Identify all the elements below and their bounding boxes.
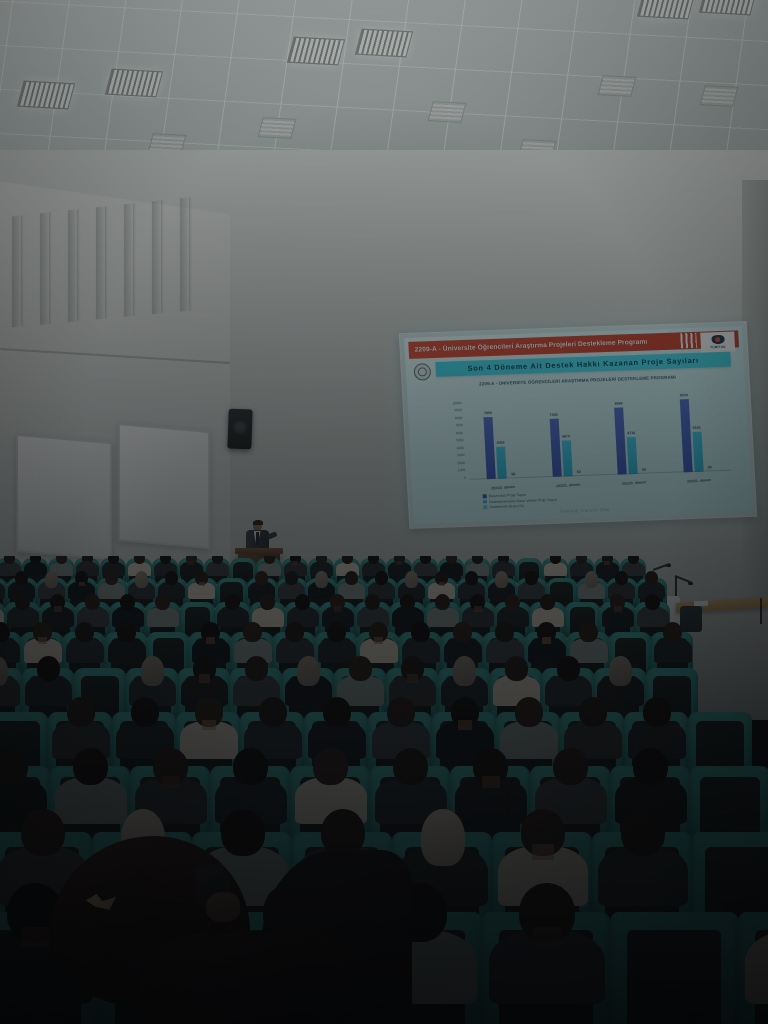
audience-member [604, 591, 631, 625]
attendee-head [633, 748, 668, 785]
chart-category-label: 2023/1. dönem [687, 478, 711, 484]
pa-speaker [227, 409, 252, 450]
attendee-head [37, 656, 60, 681]
attendee-neck [374, 637, 383, 644]
attendee-head [609, 656, 632, 686]
attendee-head [67, 697, 95, 727]
podium-top [235, 548, 283, 554]
attendee-head [387, 697, 415, 727]
ceiling-vent [700, 85, 739, 107]
attendee-neck [407, 674, 418, 682]
audience-member [149, 591, 176, 625]
chart-bar-value: 55 [708, 465, 712, 469]
ceiling-light-fixture [637, 0, 695, 19]
attendee-head [56, 556, 67, 564]
chart-bar-value: 4674 [562, 434, 570, 438]
chart-bar-group: 79004053582021/2. dönem [471, 400, 530, 480]
attendee-head [15, 571, 28, 585]
attendee-head [495, 571, 508, 588]
chart-bar: 7900 [484, 417, 496, 479]
attendee-head [313, 748, 348, 785]
attendee-head [316, 556, 327, 564]
chart-bar-value: 7900 [484, 411, 492, 415]
attendee-neck [199, 582, 206, 587]
y-axis-tick: 4000 [456, 447, 464, 451]
ceiling-light-fixture [105, 69, 163, 98]
chart-bar-value: 4716 [627, 431, 635, 435]
tubitak-logo-text: TÜBİTAK [710, 345, 726, 350]
ceiling-vent [428, 101, 467, 123]
audience-member [656, 619, 689, 661]
attendee-head [255, 571, 268, 585]
y-axis-tick: 3000 [457, 454, 465, 458]
attendee-neck [206, 637, 215, 644]
whiteboard-right [118, 423, 210, 549]
attendee-head [73, 748, 108, 785]
attendee-neck [334, 606, 342, 611]
attendee-neck [439, 582, 446, 587]
y-axis-tick: 6000 [456, 432, 464, 436]
chart-bar-value: 5165 [692, 425, 700, 429]
attendee-head [421, 809, 465, 866]
chart-legend: Başvurulan Proje SayısıDesteklenmesine K… [483, 492, 558, 510]
audience-member [497, 873, 597, 997]
chart-bar: 7445 [549, 419, 561, 477]
audience-member [190, 569, 213, 598]
attendee-head [615, 571, 628, 585]
attendee-head [505, 656, 528, 681]
chart-bar: 8549 [614, 408, 627, 475]
attendee-head [628, 556, 639, 564]
attendee-head [135, 571, 148, 588]
chart-bar-group: 85494716552022/2. dönem [602, 395, 661, 475]
attendee-neck [474, 606, 482, 611]
y-axis-tick: 2000 [457, 462, 465, 466]
chart-category-label: 2021/2. dönem [491, 485, 515, 491]
chart-category-label: 2022/1. dönem [556, 483, 580, 489]
attendee-head [30, 556, 41, 564]
attendee-head [465, 571, 478, 585]
attendee-head [285, 622, 303, 642]
attendee-head [453, 622, 471, 642]
chart-bar-value: 8549 [615, 402, 623, 406]
ceiling-light-fixture [699, 0, 757, 15]
audience-member [580, 569, 603, 598]
attendee-head [585, 571, 598, 588]
attendee-head [233, 748, 268, 785]
legend-label: Başvurulan Proje Sayısı [489, 493, 527, 498]
attendee-head [212, 556, 223, 564]
attendee-head [663, 622, 681, 642]
attendee-head [375, 571, 388, 585]
presenter-tie [256, 532, 259, 545]
legend-swatch [483, 505, 487, 509]
chart-plot: 1000090008000700060005000400030002000100… [466, 393, 732, 480]
attendee-head [345, 571, 358, 585]
chart-bar-value: 7445 [550, 413, 558, 417]
attendee-neck [162, 776, 179, 788]
attendee-head [315, 571, 328, 588]
y-axis-tick: 9000 [454, 409, 462, 413]
attendee-head [411, 622, 429, 642]
ceiling-vent [258, 117, 297, 139]
attendee-head [117, 622, 135, 642]
attendee-neck [199, 674, 210, 682]
attendee-head [134, 556, 145, 564]
attendee-head [643, 697, 671, 727]
slide-header-title: 2209-A - Üniversite Öğrencileri Araştırm… [409, 339, 648, 354]
auditorium-seat [610, 912, 738, 1024]
slide-footer: Teknoloji Transfer Ofisi [428, 502, 742, 518]
ceiling-light-fixture [287, 37, 345, 66]
audience-member [0, 652, 17, 703]
attendee-neck [79, 582, 86, 587]
ceiling-light-fixture [355, 29, 413, 58]
attendee-body [140, 932, 350, 1024]
audience-member [68, 619, 101, 661]
chart-bar-group: 93345165552023/1. dönem [667, 393, 726, 473]
attendee-head [472, 556, 483, 564]
attendee-neck [482, 776, 499, 788]
presentation-slide: 2209-A - Üniversite Öğrencileri Araştırm… [404, 326, 752, 524]
attendee-neck [84, 561, 90, 565]
audience-member [545, 556, 565, 575]
audience-member [753, 873, 768, 997]
legend-swatch [483, 494, 487, 498]
attendee-head [579, 697, 607, 727]
attendee-head [4, 556, 15, 564]
acoustic-slat-panel [6, 196, 202, 328]
attendee-head [446, 556, 457, 564]
chart-bar-value: 55 [642, 467, 646, 471]
chart-bar: 4674 [562, 440, 573, 477]
header-stripe-decoration [680, 333, 697, 349]
attendee-neck [500, 561, 506, 565]
y-axis-tick: 5000 [456, 439, 464, 443]
attendee-head [349, 656, 372, 681]
attendee-head [420, 556, 431, 564]
attendee-neck [614, 606, 622, 611]
attendee-head [108, 556, 119, 564]
attendee-head [131, 697, 159, 727]
ceiling-light-fixture [17, 81, 75, 110]
attendee-head [579, 622, 597, 642]
ceiling-vent [598, 75, 637, 97]
auditorium-scene: 2209-A - Üniversite Öğrencileri Araştırm… [0, 0, 768, 1024]
attendee-head [621, 809, 665, 856]
legend-label: Destekleme Oranı (%) [489, 504, 524, 509]
chart-bar-value: 58 [511, 472, 515, 476]
attendee-neck [458, 720, 472, 730]
attendee-head [405, 571, 418, 588]
foreground-attendee [30, 836, 330, 1024]
attendee-head [342, 556, 353, 564]
y-axis-tick: 1000 [458, 469, 466, 473]
attendee-head [525, 571, 538, 585]
attendee-head [557, 656, 580, 681]
attendee-head [75, 622, 93, 642]
chart-bar-group: 74454674632022/1. dönem [536, 398, 595, 478]
attendee-neck [202, 720, 216, 730]
attendee-head [264, 556, 275, 564]
attendee-head [495, 622, 513, 642]
attendee-head [245, 656, 268, 681]
chart-category-label: 2022/2. dönem [622, 480, 646, 486]
chart-bar: 9334 [680, 399, 693, 472]
attendee-head [550, 556, 561, 564]
attendee-neck [542, 637, 551, 644]
projection-screen: 2209-A - Üniversite Öğrencileri Araştırm… [399, 321, 757, 529]
tubitak-logo: TÜBİTAK [700, 332, 735, 353]
presenter-hair [253, 520, 263, 525]
attendee-head [576, 556, 587, 564]
y-axis-tick: 0 [464, 476, 466, 479]
attendee-head [0, 748, 28, 785]
chart-bar: 4053 [496, 447, 507, 479]
chart-bar-groups: 79004053582021/2. dönem74454674632022/1.… [466, 393, 732, 480]
attendee-head [285, 571, 298, 585]
attendee-head [368, 556, 379, 564]
attendee-head [297, 656, 320, 686]
attendee-head [160, 556, 171, 564]
attendee-head [393, 748, 428, 785]
attendee-hand [206, 892, 240, 922]
attendee-head [645, 571, 658, 585]
attendee-head [453, 656, 476, 686]
legend-swatch [483, 500, 487, 504]
attendee-head [45, 571, 58, 588]
attendee-head [323, 697, 351, 727]
attendee-head [515, 697, 543, 727]
attendee-neck [604, 561, 610, 565]
y-axis-tick: 10000 [452, 402, 462, 406]
slide-subtitle: Son 4 Döneme Ait Destek Hakkı Kazanan Pr… [467, 356, 699, 373]
attendee-head [553, 748, 588, 785]
tubitak-mark-icon [711, 335, 724, 344]
attendee-head [327, 622, 345, 642]
audience-member [604, 801, 682, 900]
chart-area: 2209-A - ÜNİVERSİTE ÖĞRENCİLERİ ARAŞTIRM… [421, 373, 742, 520]
attendee-neck [533, 927, 561, 947]
y-axis-tick: 8000 [455, 417, 463, 421]
chart-bar-value: 63 [577, 469, 581, 473]
y-axis-tick: 7000 [455, 424, 463, 428]
attendee-head [165, 571, 178, 585]
attendee-neck [532, 844, 554, 860]
whiteboard-left [16, 434, 112, 560]
chart-bar: 4716 [627, 437, 638, 474]
attendee-neck [38, 637, 47, 644]
attendee-head [259, 697, 287, 727]
attendee-head [243, 622, 261, 642]
chart-bar-value: 9334 [680, 393, 688, 397]
attendee-neck [396, 561, 402, 565]
attendee-neck [188, 561, 194, 565]
attendee-neck [292, 561, 298, 565]
chart-y-axis: 1000090008000700060005000400030002000100… [424, 402, 466, 481]
attendee-head [105, 571, 118, 585]
university-seal-icon [413, 363, 431, 381]
attendee-head [141, 656, 164, 686]
chart-bar-value: 4053 [496, 441, 504, 445]
chart-bar: 5165 [692, 431, 703, 472]
attendee-neck [54, 606, 62, 611]
